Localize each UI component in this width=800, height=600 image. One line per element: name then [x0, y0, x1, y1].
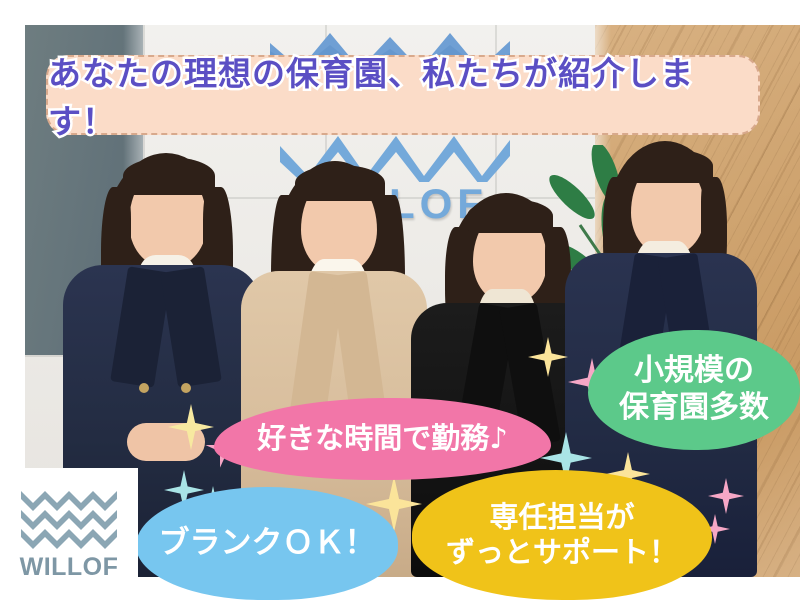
bubble-blank-ok-text: ブランクＯＫ！ [159, 525, 376, 563]
bubble-small-nurseries-line1: 小規模の [619, 353, 769, 390]
bubble-blank-ok: ブランクＯＫ！ [136, 487, 398, 600]
bubble-small-nurseries-line2: 保育園多数 [619, 390, 769, 427]
willof-logo-text: WILLOF [20, 553, 119, 582]
bubble-dedicated-support-line2: ずっとサポート！ [446, 535, 678, 570]
bubble-dedicated-support-line1: 専任担当が [446, 500, 678, 535]
bubble-small-nurseries: 小規模の 保育園多数 [588, 330, 800, 450]
bubble-dedicated-support: 専任担当が ずっとサポート！ [412, 470, 712, 600]
willof-logo: WILLOF [0, 468, 138, 600]
ad-creative: WILLOF [0, 0, 800, 600]
headline-banner: あなたの理想の保育園、私たちが紹介します！ [46, 55, 760, 135]
bubble-flexible-hours-text: 好きな時間で勤務♪ [257, 421, 508, 456]
headline-text: あなたの理想の保育園、私たちが紹介します！ [48, 47, 758, 143]
willof-wave-mark-icon [21, 487, 117, 549]
